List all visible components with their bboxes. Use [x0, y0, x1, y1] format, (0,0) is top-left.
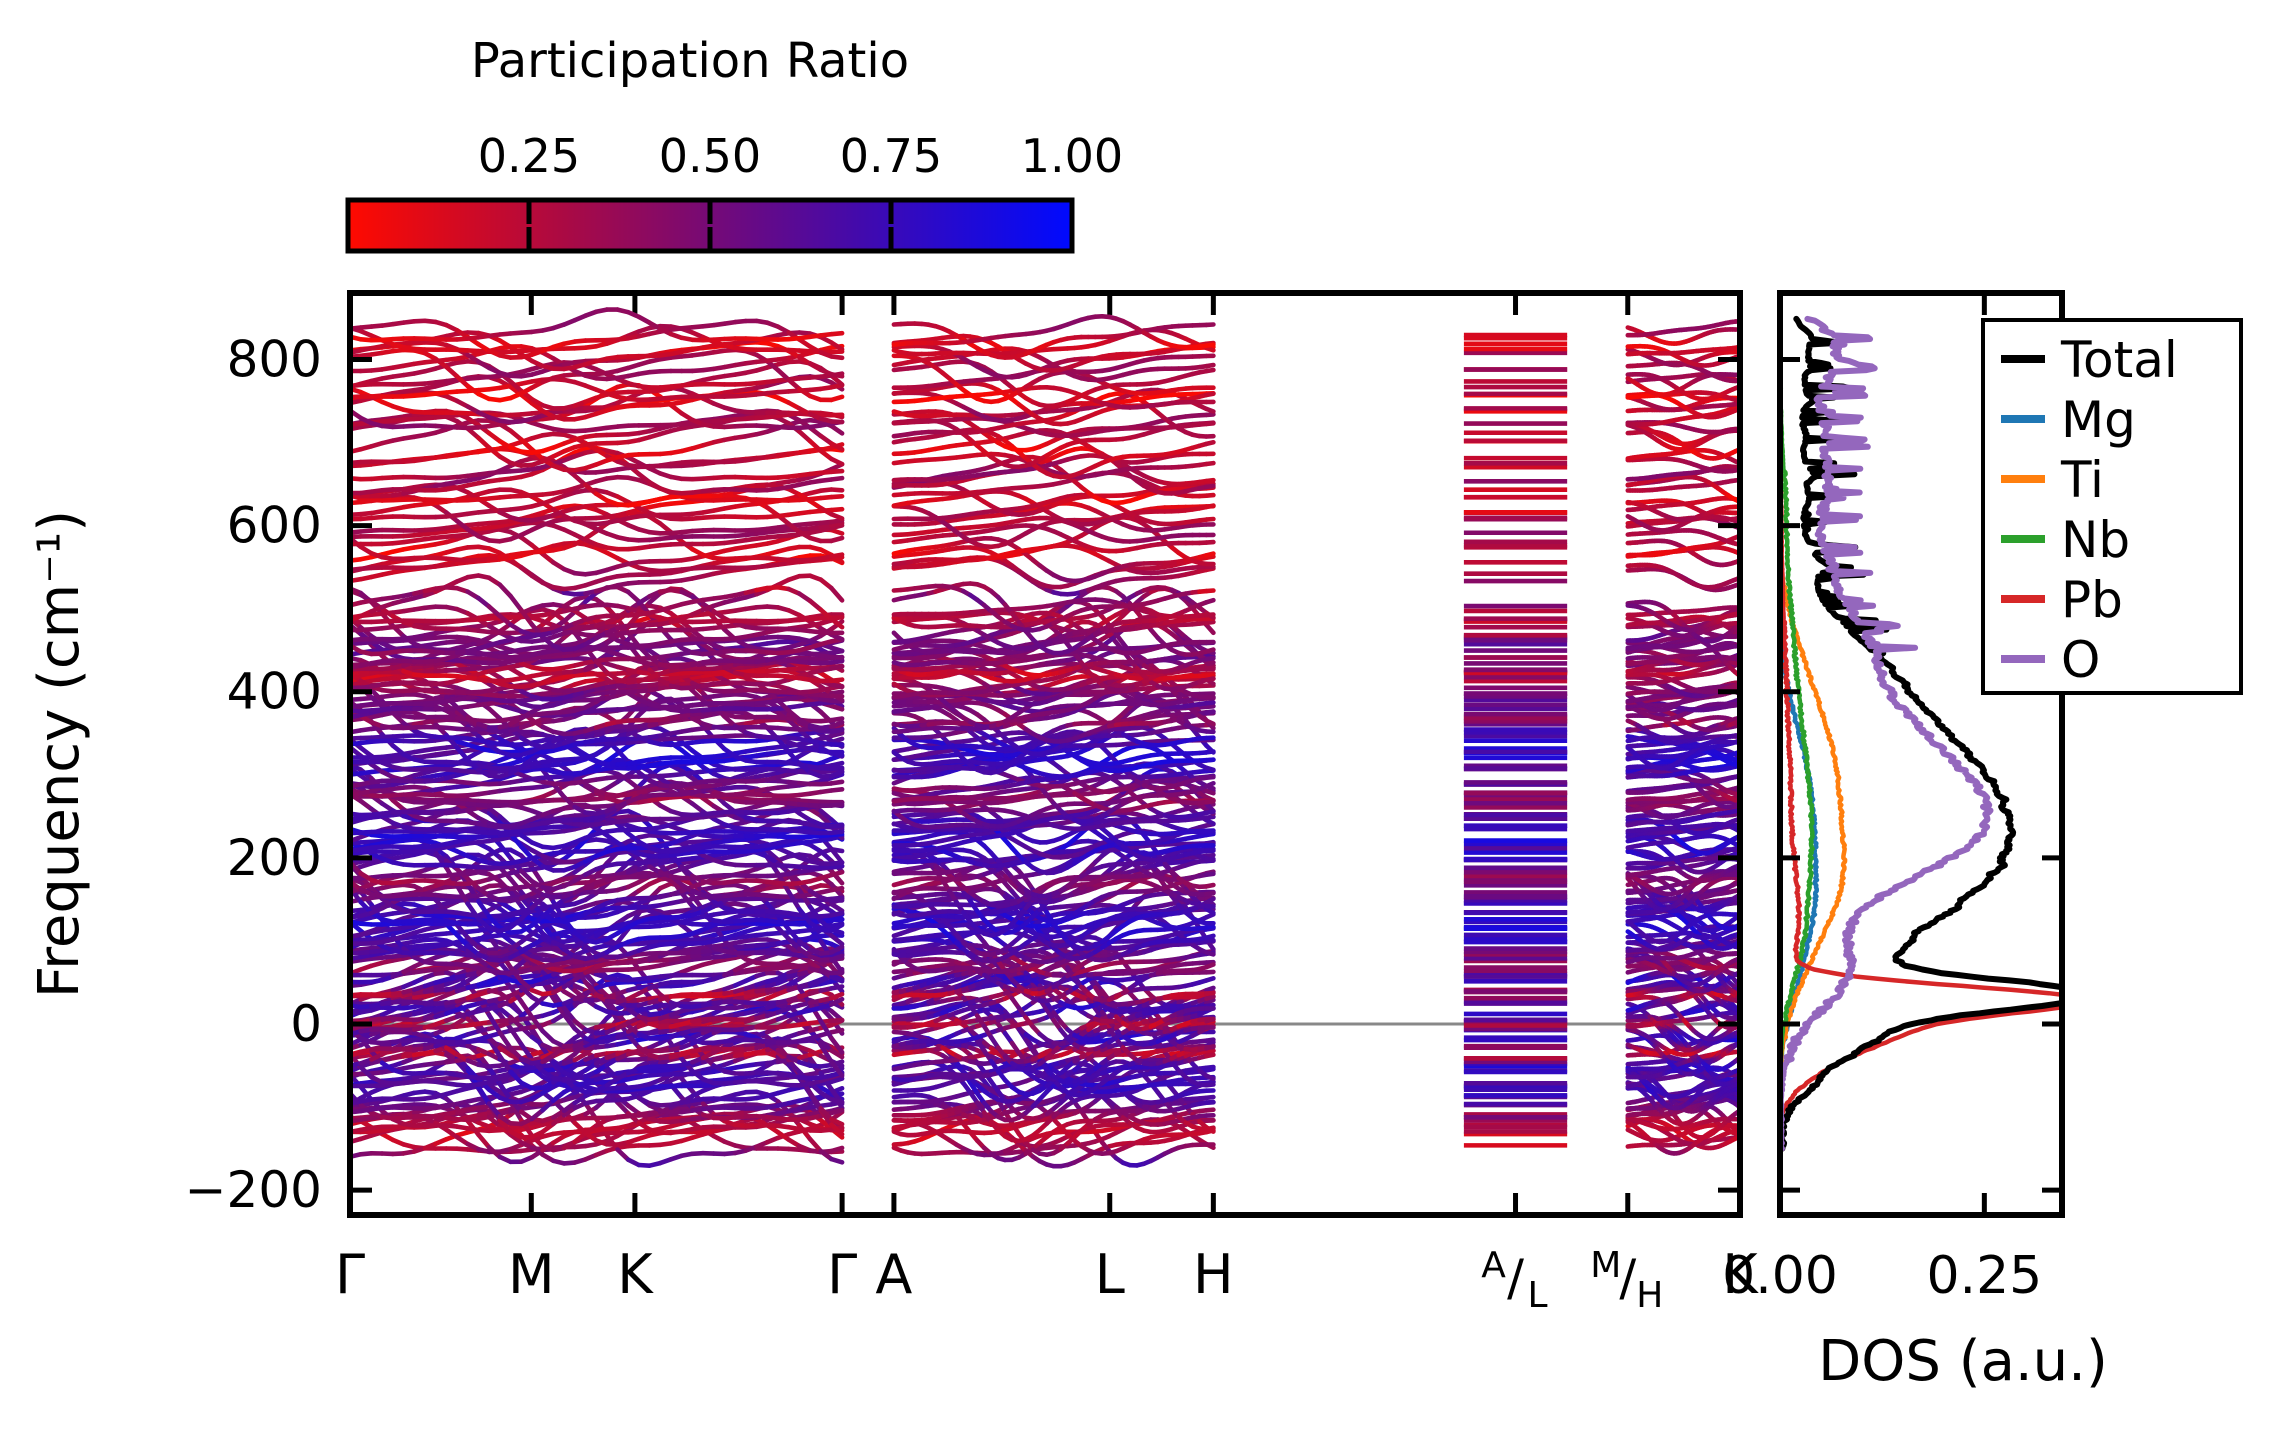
band-curves: [350, 310, 1740, 1167]
colorbar-tick-label: 0.50: [659, 129, 761, 183]
figure-canvas: 0.250.500.751.00Participation Ratio80060…: [0, 0, 2271, 1455]
band-structure-panel: 8006004002000−200Frequency (cm⁻¹)ΓMKΓALH…: [27, 293, 1759, 1316]
band-segment: [831, 1020, 842, 1021]
colorbar-tick-label: 0.75: [840, 129, 942, 183]
colorbar-title: Participation Ratio: [471, 33, 909, 89]
band-segment: [1206, 1129, 1213, 1130]
colorbar-tick-label: 1.00: [1021, 129, 1123, 183]
band-segment: [1206, 1069, 1213, 1070]
band-segment: [831, 1110, 842, 1113]
phonon-band-dos-figure: 0.250.500.751.00Participation Ratio80060…: [0, 0, 2271, 1455]
band-segment: [831, 1030, 842, 1032]
band-segment: [1206, 1097, 1213, 1098]
band-segment: [831, 1159, 842, 1162]
band-segment: [1206, 1102, 1213, 1103]
band-segment: [1206, 1076, 1213, 1079]
band-segment: [1206, 1046, 1213, 1048]
band-segment: [478, 1135, 489, 1148]
band-segment: [1206, 1110, 1213, 1111]
band-segment: [1206, 1051, 1213, 1052]
colorbar-group: 0.250.500.751.00Participation Ratio: [348, 33, 1123, 251]
colorbar-tick-label: 0.25: [478, 129, 580, 183]
band-segment: [1206, 1055, 1213, 1056]
band-segment: [831, 1148, 842, 1151]
band-segment: [831, 1099, 842, 1102]
band-segment: [1206, 1085, 1213, 1086]
